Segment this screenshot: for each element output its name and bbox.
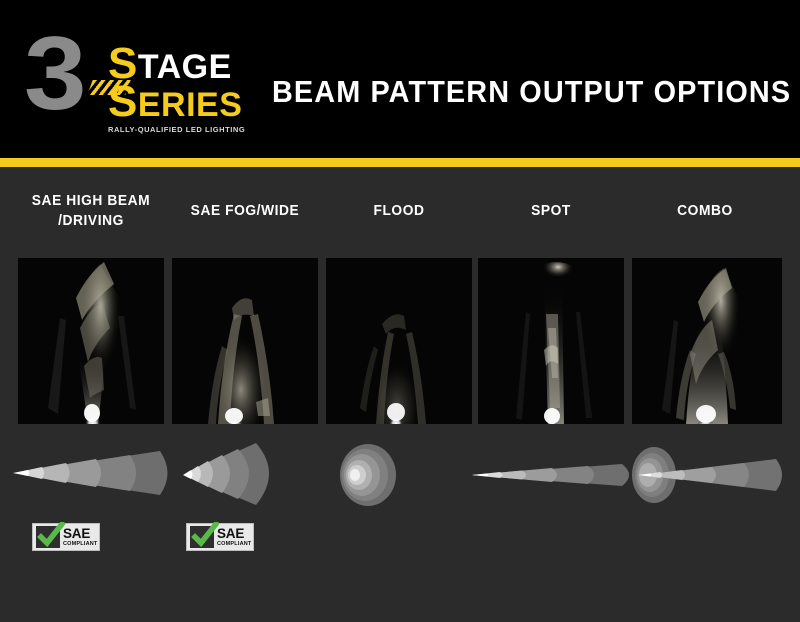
page-title: BEAM PATTERN OUTPUT OPTIONS [272, 74, 791, 110]
beam-column-sae-fog-wide: SAE FOG/WIDE [172, 167, 318, 622]
sae-compliant-badge: SAE COMPLIANT [186, 523, 254, 551]
beam-pattern-poster: 3 STAGE SERIES RALLY-QUALIFIED LED LIGHT… [0, 0, 800, 622]
stage-series-logo: 3 STAGE SERIES RALLY-QUALIFIED LED LIGHT… [24, 26, 254, 130]
logo-series-rest: ERIES [138, 86, 243, 124]
sae-badge-text: SAE COMPLIANT [217, 527, 252, 547]
beam-diagram-combo [624, 439, 794, 507]
sae-badge-subtitle: COMPLIANT [63, 542, 98, 548]
beam-photo-sae-fog-wide [172, 258, 318, 424]
beam-photo-combo [632, 258, 782, 424]
column-label-line1: SPOT [470, 201, 632, 221]
beam-diagram-sae-high-beam-driving [10, 439, 180, 507]
sae-badge-text: SAE COMPLIANT [63, 527, 98, 547]
logo-word-series: SERIES [108, 85, 258, 122]
beam-column-sae-high-beam-driving: SAE HIGH BEAM /DRIVING [18, 167, 164, 622]
column-label: SAE FOG/WIDE [164, 201, 326, 221]
sae-badge-title: SAE [63, 527, 98, 541]
column-label: COMBO [624, 201, 786, 221]
column-label-line1: FLOOD [318, 201, 480, 221]
poster-header: 3 STAGE SERIES RALLY-QUALIFIED LED LIGHT… [0, 0, 800, 158]
column-label-line1: COMBO [624, 201, 786, 221]
logo-stage-rest: TAGE [138, 48, 232, 86]
accent-divider [0, 158, 800, 167]
sae-badge-subtitle: COMPLIANT [217, 542, 252, 548]
column-label: SPOT [470, 201, 632, 221]
logo-series-initial: S [108, 77, 138, 126]
beam-diagram-sae-fog-wide [164, 439, 334, 507]
sae-compliant-badge: SAE COMPLIANT [32, 523, 100, 551]
beam-diagram-spot [470, 439, 640, 507]
sae-check-box [36, 526, 60, 548]
beam-column-spot: SPOT [478, 167, 624, 622]
beam-diagram-flood [318, 439, 488, 507]
sae-badge-title: SAE [217, 527, 252, 541]
logo-wordmark: STAGE SERIES RALLY-QUALIFIED LED LIGHTIN… [108, 48, 258, 134]
beam-column-combo: COMBO [632, 167, 778, 622]
beam-photo-sae-high-beam-driving [18, 258, 164, 424]
column-label: FLOOD [318, 201, 480, 221]
column-label: SAE HIGH BEAM /DRIVING [10, 191, 172, 231]
beam-column-flood: FLOOD [326, 167, 472, 622]
beam-photo-spot [478, 258, 624, 424]
sae-check-box [190, 526, 214, 548]
beam-pattern-grid: SAE HIGH BEAM /DRIVING [0, 167, 800, 622]
column-label-line2: /DRIVING [10, 211, 172, 231]
beam-photo-flood [326, 258, 472, 424]
logo-numeral: 3 [24, 22, 80, 126]
column-label-line1: SAE FOG/WIDE [164, 201, 326, 221]
logo-tagline: RALLY-QUALIFIED LED LIGHTING [108, 125, 258, 134]
check-icon [37, 522, 65, 550]
column-label-line1: SAE HIGH BEAM [10, 191, 172, 211]
check-icon [191, 522, 219, 550]
